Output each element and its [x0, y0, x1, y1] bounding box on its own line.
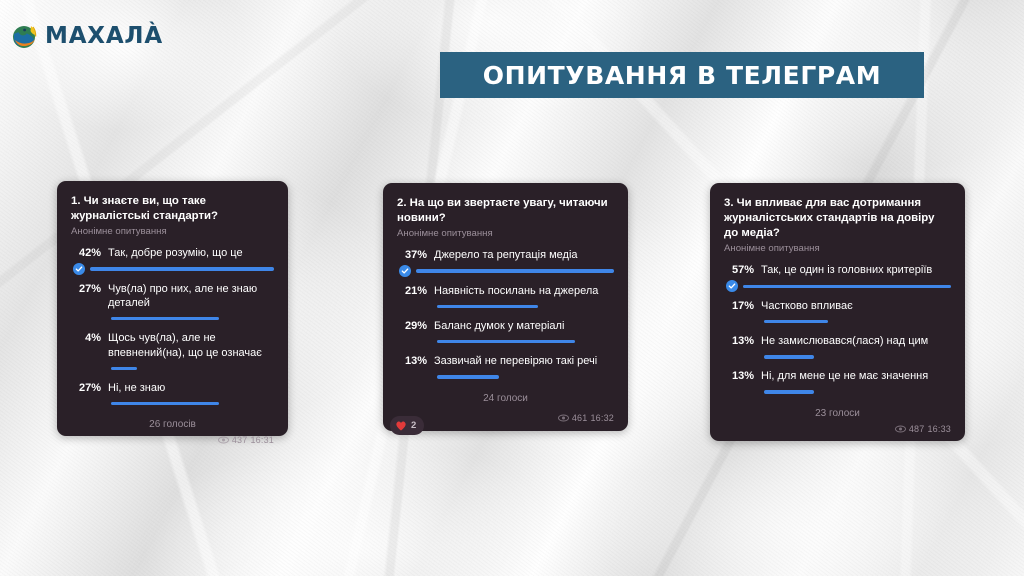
view-count: 437 [232, 435, 248, 445]
poll-question: 3. Чи впливає для вас дотримання журналі… [724, 196, 951, 241]
poll-option-bar-row [71, 264, 274, 275]
poll-option[interactable]: 13%Зазвичай не перевіряю такі речі [397, 354, 614, 382]
poll-option-row: 4%Щось чув(ла), але не впевнений(на), що… [71, 331, 274, 360]
poll-option-bar-row [71, 398, 274, 409]
poll-option-label: Чув(ла) про них, але не знаю деталей [108, 282, 274, 311]
poll-option-percent: 21% [397, 284, 427, 298]
poll-card-1: 1. Чи знаєте ви, що таке журналістські с… [57, 181, 288, 436]
poll-question: 2. На що ви звертаєте увагу, читаючи нов… [397, 196, 614, 226]
poll-votes-count: 23 голоси [724, 408, 951, 419]
poll-option-bar-track [111, 363, 274, 374]
page-title-banner: ОПИТУВАННЯ В ТЕЛЕГРАМ [440, 52, 924, 98]
poll-option-percent: 13% [724, 334, 754, 348]
poll-option-label: Баланс думок у матеріалі [434, 319, 614, 333]
poll-option-bar-track [111, 313, 274, 324]
poll-option-label: Не замислювався(лася) над цим [761, 334, 951, 348]
poll-option-bar-row [397, 336, 614, 347]
poll-option-label: Наявність посилань на джерела [434, 284, 614, 298]
poll-subtitle: Анонімне опитування [724, 243, 951, 254]
poll-option-row: 27%Чув(ла) про них, але не знаю деталей [71, 282, 274, 311]
poll-option-bar-row [724, 281, 951, 292]
poll-option-bar-row [71, 363, 274, 374]
check-icon [726, 280, 738, 292]
poll-card-footer: 48716:33 [724, 419, 951, 434]
poll-option-row: 21%Наявність посилань на джерела [397, 284, 614, 298]
poll-card-2: 2. На що ви звертаєте увагу, читаючи нов… [383, 183, 628, 431]
check-icon [399, 265, 411, 277]
poll-option-percent: 13% [724, 369, 754, 383]
poll-option-percent: 37% [397, 248, 427, 262]
poll-option-bar-track [437, 336, 614, 347]
eye-icon [895, 425, 906, 433]
poll-options: 42%Так, добре розумію, що це27%Чув(ла) п… [71, 246, 274, 416]
check-icon [73, 263, 85, 275]
poll-option[interactable]: 21%Наявність посилань на джерела [397, 284, 614, 312]
poll-option[interactable]: 57%Так, це один із головних критеріїв [724, 263, 951, 291]
poll-option[interactable]: 13%Не замислювався(лася) над цим [724, 334, 951, 362]
poll-option-bar-row [724, 387, 951, 398]
poll-option[interactable]: 29%Баланс думок у матеріалі [397, 319, 614, 347]
page-title: ОПИТУВАННЯ В ТЕЛЕГРАМ [483, 61, 881, 90]
poll-question: 1. Чи знаєте ви, що таке журналістські с… [71, 194, 274, 224]
poll-option-bar-fill [90, 267, 274, 270]
reaction-count: 2 [411, 420, 416, 431]
poll-option-label: Так, це один із головних критеріїв [761, 263, 951, 277]
poll-option-bar-track [111, 398, 274, 409]
poll-option-bar-fill [111, 402, 219, 405]
brand-logo: МАХАЛÀ [11, 21, 163, 51]
heart-icon [395, 420, 407, 431]
view-count: 487 [909, 424, 925, 434]
poll-option-bar-track [764, 351, 951, 362]
reaction-badge[interactable]: 2 [390, 416, 424, 435]
poll-votes-count: 24 голоси [397, 393, 614, 404]
globe-wheat-icon [11, 21, 41, 51]
poll-option-row: 13%Зазвичай не перевіряю такі речі [397, 354, 614, 368]
eye-icon [558, 414, 569, 422]
poll-option-bar-fill [764, 390, 814, 393]
poll-option-bar-fill [111, 317, 219, 320]
poll-option-bar-fill [416, 269, 614, 272]
poll-option-row: 37%Джерело та репутація медіа [397, 248, 614, 262]
poll-option-bar-fill [437, 340, 575, 343]
brand-wordmark: МАХАЛÀ [45, 23, 163, 49]
poll-option-percent: 42% [71, 246, 101, 260]
poll-option-percent: 17% [724, 299, 754, 313]
post-time: 16:31 [250, 435, 274, 445]
poll-option[interactable]: 13%Ні, для мене це не має значення [724, 369, 951, 397]
poll-option-label: Ні, не знаю [108, 381, 274, 395]
poll-subtitle: Анонімне опитування [71, 226, 274, 237]
poll-option[interactable]: 37%Джерело та репутація медіа [397, 248, 614, 276]
poll-card-3: 3. Чи впливає для вас дотримання журналі… [710, 183, 965, 441]
post-time: 16:32 [590, 413, 614, 423]
poll-option-bar-track [90, 264, 274, 275]
poll-option-bar-track [437, 301, 614, 312]
poll-options: 57%Так, це один із головних критеріїв17%… [724, 263, 951, 404]
poll-card-footer: 46116:32 [397, 408, 614, 423]
poll-option-row: 42%Так, добре розумію, що це [71, 246, 274, 260]
poll-option-bar-row [724, 351, 951, 362]
poll-option-label: Джерело та репутація медіа [434, 248, 614, 262]
poll-option[interactable]: 27%Ні, не знаю [71, 381, 274, 409]
poll-votes-count: 26 голосів [71, 419, 274, 430]
eye-icon [218, 436, 229, 444]
poll-option-row: 57%Так, це один із головних критеріїв [724, 263, 951, 277]
poll-option-label: Ні, для мене це не має значення [761, 369, 951, 383]
poll-option-bar-row [397, 372, 614, 383]
poll-option[interactable]: 4%Щось чув(ла), але не впевнений(на), що… [71, 331, 274, 374]
poll-subtitle: Анонімне опитування [397, 228, 614, 239]
poll-option-label: Так, добре розумію, що це [108, 246, 274, 260]
poll-option-percent: 27% [71, 381, 101, 395]
poll-option-label: Частково впливає [761, 299, 951, 313]
poll-option-label: Щось чув(ла), але не впевнений(на), що ц… [108, 331, 274, 360]
poll-option-bar-track [764, 387, 951, 398]
poll-option-bar-fill [437, 375, 499, 378]
poll-option-label: Зазвичай не перевіряю такі речі [434, 354, 614, 368]
poll-option-row: 13%Ні, для мене це не має значення [724, 369, 951, 383]
poll-option-bar-row [724, 316, 951, 327]
poll-option-percent: 27% [71, 282, 101, 296]
poll-option-percent: 29% [397, 319, 427, 333]
poll-option-bar-track [437, 372, 614, 383]
poll-card-footer: 43716:31 [71, 430, 274, 445]
poll-option-bar-row [397, 266, 614, 277]
poll-option-percent: 13% [397, 354, 427, 368]
poll-option[interactable]: 17%Частково впливає [724, 299, 951, 327]
poll-option[interactable]: 42%Так, добре розумію, що це [71, 246, 274, 274]
poll-option-bar-track [743, 281, 951, 292]
poll-option-percent: 57% [724, 263, 754, 277]
post-time: 16:33 [927, 424, 951, 434]
poll-option-bar-fill [764, 320, 828, 323]
poll-option-row: 13%Не замислювався(лася) над цим [724, 334, 951, 348]
poll-option-bar-fill [743, 285, 951, 288]
view-count: 461 [572, 413, 588, 423]
poll-option-bar-track [416, 266, 614, 277]
poll-option-row: 27%Ні, не знаю [71, 381, 274, 395]
poll-options: 37%Джерело та репутація медіа21%Наявніст… [397, 248, 614, 389]
poll-option-row: 17%Частково впливає [724, 299, 951, 313]
poll-option-bar-row [71, 313, 274, 324]
poll-option[interactable]: 27%Чув(ла) про них, але не знаю деталей [71, 282, 274, 325]
poll-option-bar-track [764, 316, 951, 327]
poll-option-percent: 4% [71, 331, 101, 345]
poll-option-bar-fill [437, 305, 538, 308]
poll-option-row: 29%Баланс думок у матеріалі [397, 319, 614, 333]
poll-option-bar-row [397, 301, 614, 312]
poll-option-bar-fill [764, 355, 814, 358]
poll-option-bar-fill [111, 367, 137, 370]
